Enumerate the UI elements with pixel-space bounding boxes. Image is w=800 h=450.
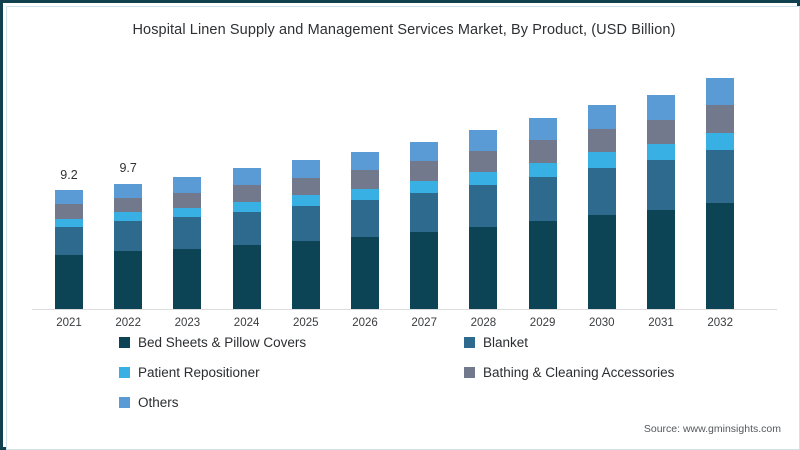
bar-segment-2031-1[interactable] bbox=[647, 160, 675, 210]
bar-segment-2032-3[interactable] bbox=[706, 105, 734, 132]
bar-segment-2032-0[interactable] bbox=[706, 203, 734, 310]
bar-segment-2024-3[interactable] bbox=[233, 185, 261, 202]
legend-label-3: Bathing & Cleaning Accessories bbox=[483, 365, 674, 380]
bar-segment-2023-2[interactable] bbox=[173, 208, 201, 217]
legend-item-1[interactable]: Blanket bbox=[464, 335, 528, 350]
bar-2023[interactable] bbox=[173, 177, 201, 310]
bar-segment-2024-4[interactable] bbox=[233, 168, 261, 185]
bar-segment-2021-2[interactable] bbox=[55, 219, 83, 227]
legend-swatch-icon-2 bbox=[119, 367, 130, 378]
bar-segment-2031-0[interactable] bbox=[647, 210, 675, 310]
legend-label-2: Patient Repositioner bbox=[138, 365, 260, 380]
bar-segment-2022-3[interactable] bbox=[114, 198, 142, 212]
bar-segment-2027-2[interactable] bbox=[410, 181, 438, 193]
chart-frame: Hospital Linen Supply and Management Ser… bbox=[0, 0, 800, 450]
chart-legend: Bed Sheets & Pillow CoversBlanketPatient… bbox=[119, 335, 739, 427]
bar-segment-2031-3[interactable] bbox=[647, 120, 675, 145]
plot-area bbox=[32, 52, 777, 310]
bar-segment-2022-1[interactable] bbox=[114, 221, 142, 251]
x-tick-2022: 2022 bbox=[98, 317, 158, 329]
bar-2031[interactable] bbox=[647, 95, 675, 310]
bar-segment-2030-2[interactable] bbox=[588, 152, 616, 168]
bar-segment-2028-2[interactable] bbox=[469, 172, 497, 185]
legend-swatch-icon-3 bbox=[464, 367, 475, 378]
bar-segment-2023-4[interactable] bbox=[173, 177, 201, 193]
bar-segment-2028-0[interactable] bbox=[469, 227, 497, 310]
bar-segment-2029-0[interactable] bbox=[529, 221, 557, 310]
legend-item-3[interactable]: Bathing & Cleaning Accessories bbox=[464, 365, 674, 380]
x-axis-baseline bbox=[32, 309, 777, 310]
x-tick-2026: 2026 bbox=[335, 317, 395, 329]
bar-segment-2027-3[interactable] bbox=[410, 161, 438, 181]
bar-segment-2030-3[interactable] bbox=[588, 129, 616, 152]
bar-segment-2032-1[interactable] bbox=[706, 150, 734, 203]
x-tick-2025: 2025 bbox=[276, 317, 336, 329]
bar-segment-2026-1[interactable] bbox=[351, 200, 379, 237]
value-label-2022: 9.7 bbox=[98, 161, 158, 175]
bar-segment-2024-0[interactable] bbox=[233, 245, 261, 310]
legend-swatch-icon-1 bbox=[464, 337, 475, 348]
bar-segment-2030-1[interactable] bbox=[588, 168, 616, 215]
bar-segment-2027-4[interactable] bbox=[410, 142, 438, 162]
bar-segment-2026-4[interactable] bbox=[351, 152, 379, 170]
source-note: Source: www.gminsights.com bbox=[644, 423, 781, 435]
bar-2028[interactable] bbox=[469, 130, 497, 310]
bar-segment-2030-4[interactable] bbox=[588, 105, 616, 128]
bar-segment-2026-0[interactable] bbox=[351, 237, 379, 310]
bar-2025[interactable] bbox=[292, 160, 320, 310]
bar-segment-2029-2[interactable] bbox=[529, 163, 557, 177]
legend-swatch-icon-0 bbox=[119, 337, 130, 348]
bar-2027[interactable] bbox=[410, 142, 438, 310]
x-tick-2023: 2023 bbox=[157, 317, 217, 329]
x-tick-2031: 2031 bbox=[631, 317, 691, 329]
bar-segment-2029-1[interactable] bbox=[529, 177, 557, 221]
bar-segment-2021-0[interactable] bbox=[55, 255, 83, 310]
bar-segment-2028-4[interactable] bbox=[469, 130, 497, 151]
bar-segment-2032-2[interactable] bbox=[706, 133, 734, 150]
x-tick-2029: 2029 bbox=[513, 317, 573, 329]
bar-segment-2026-3[interactable] bbox=[351, 170, 379, 188]
bar-segment-2021-1[interactable] bbox=[55, 227, 83, 256]
bar-segment-2021-3[interactable] bbox=[55, 204, 83, 218]
bar-segment-2026-2[interactable] bbox=[351, 189, 379, 201]
bar-2032[interactable] bbox=[706, 78, 734, 310]
x-tick-2021: 2021 bbox=[39, 317, 99, 329]
bar-2030[interactable] bbox=[588, 105, 616, 310]
x-tick-2030: 2030 bbox=[572, 317, 632, 329]
bar-segment-2025-4[interactable] bbox=[292, 160, 320, 178]
bar-segment-2029-3[interactable] bbox=[529, 140, 557, 162]
legend-item-2[interactable]: Patient Repositioner bbox=[119, 365, 260, 380]
bar-segment-2023-1[interactable] bbox=[173, 217, 201, 248]
bar-segment-2028-1[interactable] bbox=[469, 185, 497, 227]
bar-segment-2025-0[interactable] bbox=[292, 241, 320, 310]
legend-label-1: Blanket bbox=[483, 335, 528, 350]
legend-item-4[interactable]: Others bbox=[119, 395, 179, 410]
bar-segment-2030-0[interactable] bbox=[588, 215, 616, 310]
bar-segment-2029-4[interactable] bbox=[529, 118, 557, 140]
bar-2022[interactable] bbox=[114, 183, 142, 310]
legend-swatch-icon-4 bbox=[119, 397, 130, 408]
bar-2021[interactable] bbox=[55, 190, 83, 310]
x-tick-2032: 2032 bbox=[690, 317, 750, 329]
bar-segment-2021-4[interactable] bbox=[55, 190, 83, 204]
x-tick-2024: 2024 bbox=[217, 317, 277, 329]
bar-segment-2022-0[interactable] bbox=[114, 251, 142, 310]
bar-segment-2027-1[interactable] bbox=[410, 193, 438, 232]
bar-segment-2024-1[interactable] bbox=[233, 212, 261, 245]
bar-segment-2024-2[interactable] bbox=[233, 202, 261, 212]
bar-segment-2032-4[interactable] bbox=[706, 78, 734, 105]
bar-2026[interactable] bbox=[351, 152, 379, 310]
bar-segment-2027-0[interactable] bbox=[410, 232, 438, 310]
bar-segment-2025-1[interactable] bbox=[292, 206, 320, 241]
bar-2024[interactable] bbox=[233, 168, 261, 310]
legend-item-0[interactable]: Bed Sheets & Pillow Covers bbox=[119, 335, 306, 350]
chart-title: Hospital Linen Supply and Management Ser… bbox=[7, 22, 800, 38]
bar-segment-2028-3[interactable] bbox=[469, 151, 497, 172]
bar-segment-2022-2[interactable] bbox=[114, 212, 142, 221]
bar-segment-2025-2[interactable] bbox=[292, 195, 320, 205]
legend-label-4: Others bbox=[138, 395, 179, 410]
chart-inner-border: Hospital Linen Supply and Management Ser… bbox=[6, 6, 800, 450]
bar-segment-2023-0[interactable] bbox=[173, 249, 201, 310]
bar-segment-2031-2[interactable] bbox=[647, 144, 675, 160]
legend-label-0: Bed Sheets & Pillow Covers bbox=[138, 335, 306, 350]
value-label-2021: 9.2 bbox=[39, 168, 99, 182]
bar-segment-2022-4[interactable] bbox=[114, 184, 142, 198]
bar-2029[interactable] bbox=[529, 118, 557, 310]
bar-segment-2031-4[interactable] bbox=[647, 95, 675, 120]
bar-segment-2025-3[interactable] bbox=[292, 178, 320, 195]
bar-segment-2023-3[interactable] bbox=[173, 193, 201, 209]
x-tick-2028: 2028 bbox=[453, 317, 513, 329]
x-tick-2027: 2027 bbox=[394, 317, 454, 329]
